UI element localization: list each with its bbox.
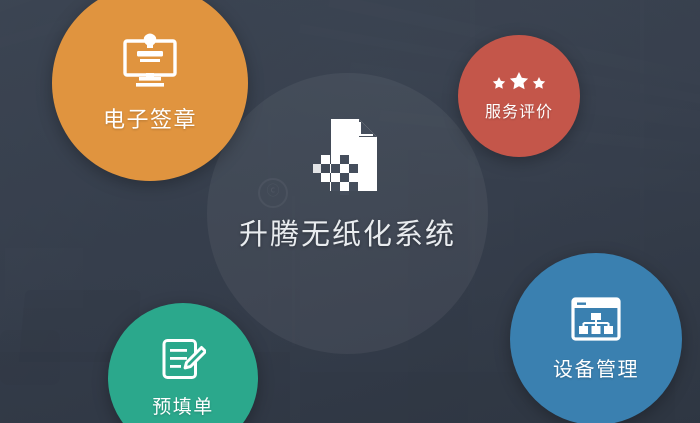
feature-device-management[interactable]: 设备管理 [510, 253, 682, 423]
browser-org-chart-icon [571, 297, 621, 345]
feature-label: 服务评价 [485, 98, 553, 122]
document-pencil-icon [160, 338, 206, 384]
monitor-stamp-icon [118, 32, 182, 94]
pixelated-document-icon [313, 115, 383, 195]
feature-service-rating[interactable]: 服务评价 [458, 35, 580, 157]
feature-label: 电子签章 [103, 102, 197, 134]
brand-block: 升腾无纸化系统 [207, 115, 488, 253]
brand-title: 升腾无纸化系统 [207, 211, 488, 253]
three-stars-icon [488, 71, 550, 93]
feature-label: 预填单 [152, 392, 214, 419]
paperless-system-banner: ⓒ [0, 0, 700, 423]
feature-label: 设备管理 [553, 353, 639, 382]
